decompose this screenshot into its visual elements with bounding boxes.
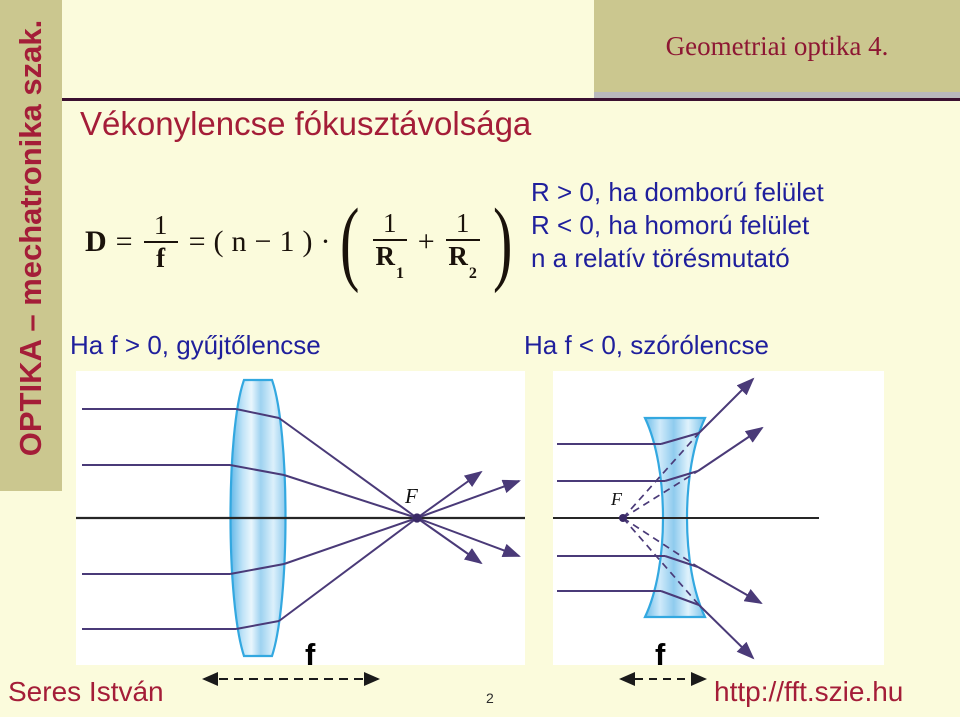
converging-lens-diagram: F (76, 371, 525, 665)
focal-point-marker (619, 514, 627, 522)
formula-minus: − (251, 225, 276, 259)
formula-equals-2: = (185, 225, 210, 259)
formula-frac2-denominator: R1 (376, 241, 405, 275)
focal-point-marker (412, 513, 421, 522)
formula-big-open-paren: ( (340, 208, 359, 278)
formula-close-paren: ) (298, 225, 316, 259)
footer-url[interactable]: http://fft.szie.hu (714, 676, 903, 708)
formula-D: D (80, 225, 112, 259)
slide-canvas: OPTIKA – mechatronika szak. Geometriai o… (0, 0, 960, 717)
formula-frac3-subscript: 2 (468, 265, 477, 282)
case-diverging-label: Ha f < 0, szórólencse (524, 330, 769, 361)
header-divider (62, 98, 960, 101)
case-converging-label: Ha f > 0, gyűjtőlencse (70, 330, 321, 361)
note-convex: R > 0, ha domború felület (531, 176, 824, 209)
deck-title: Geometriai optika 4. (594, 31, 960, 62)
formula-fraction-2: 1 R1 (366, 210, 414, 275)
formula-one: 1 (275, 225, 298, 259)
formula-dot: · (316, 225, 334, 259)
footer-author: Seres István (8, 676, 164, 708)
formula-fraction-3: 1 R2 (439, 210, 487, 275)
formula-frac1-denominator: f (156, 243, 165, 272)
formula-frac2-subscript: 1 (395, 265, 404, 282)
slide-title: Vékonylencse fókusztávolsága (80, 105, 531, 143)
formula-big-close-paren: ) (493, 208, 512, 278)
focal-length-arrow-right (613, 668, 717, 690)
formula-equals-1: = (112, 225, 137, 259)
formula-open-paren: ( (210, 225, 228, 259)
sign-convention-notes: R > 0, ha domború felület R < 0, ha homo… (531, 176, 824, 275)
formula-frac2-numerator: 1 (383, 210, 397, 239)
diverging-lens-diagram: F (553, 371, 884, 665)
formula-plus: + (414, 225, 439, 259)
focal-point-label: F (610, 489, 623, 509)
formula-fraction-1: 1 f (137, 212, 185, 272)
focal-point-label: F (404, 484, 418, 508)
formula-frac1-numerator: 1 (154, 212, 168, 241)
note-concave: R < 0, ha homorú felület (531, 209, 824, 242)
focal-length-arrow-left (196, 668, 386, 690)
lens-maker-formula: D = 1 f = ( n − 1 ) · ( 1 R1 + 1 (80, 190, 518, 295)
footer-page-number: 2 (486, 690, 494, 706)
formula-n: n (228, 225, 251, 259)
converging-rays (279, 418, 417, 621)
formula-frac3-numerator: 1 (456, 210, 470, 239)
formula-frac3-denominator: R2 (448, 241, 477, 275)
note-refractive-index: n a relatív törésmutató (531, 242, 824, 275)
sidebar-course-label: OPTIKA – mechatronika szak. (1, 0, 61, 483)
